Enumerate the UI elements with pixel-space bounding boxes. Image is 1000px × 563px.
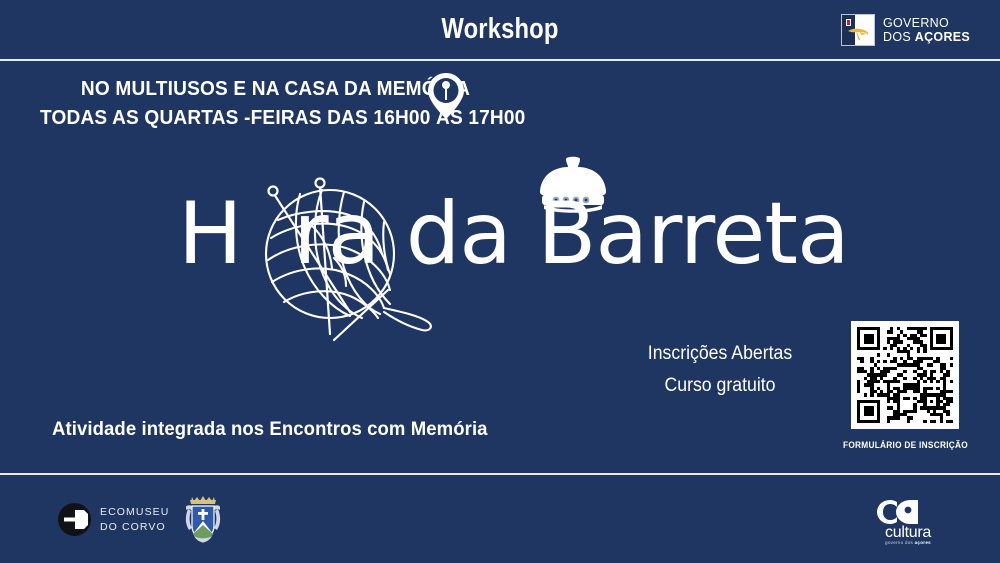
gov-logo-text: GOVERNO DOS AÇORES — [883, 16, 970, 45]
governo-dos-acores-logo: GOVERNO DOS AÇORES — [841, 14, 970, 46]
ecomuseu-mark-icon — [58, 503, 91, 536]
qr-caption: FORMULÁRIO DE INSCRIÇÃO — [839, 440, 972, 450]
cultura-sub-light: governo dos — [885, 540, 915, 545]
event-details: NO MULTIUSOS E NA CASA DA MEMÓRIA TODAS … — [40, 74, 430, 132]
cultura-logo-icon: cultura governo dos açores — [872, 497, 944, 545]
event-location: NO MULTIUSOS E NA CASA DA MEMÓRIA — [40, 74, 403, 103]
location-pin-icon — [420, 70, 472, 122]
ecomuseu-do-corvo-logo: ECOMUSEU DO CORVO — [58, 503, 169, 536]
signup-info: Inscrições Abertas Curso gratuito — [620, 338, 820, 403]
main-title-group: Hora da Barreta — [0, 150, 1000, 340]
page-title: Workshop — [90, 13, 910, 46]
title-part-3: Barreta — [537, 184, 848, 284]
event-schedule: TODAS AS QUARTAS -FEIRAS DAS 16H00 ÀS 17… — [40, 103, 403, 132]
poster-title: Hora da Barreta — [178, 184, 849, 284]
gov-logo-line1: GOVERNO — [883, 16, 970, 30]
divider-bottom — [0, 473, 1000, 475]
title-part-2: ra da — [293, 184, 537, 284]
ecomuseu-logo-text: ECOMUSEU DO CORVO — [100, 505, 169, 533]
ecomuseu-line-2: DO CORVO — [100, 520, 169, 534]
ecomuseu-line-1: ECOMUSEU — [100, 505, 169, 519]
footer-bar: ECOMUSEU DO CORVO cultura — [0, 476, 1000, 563]
signup-line-1: Inscrições Abertas — [627, 338, 813, 370]
divider-top — [0, 59, 1000, 61]
cultura-sub-bold: açores — [915, 540, 931, 545]
header-bar: Workshop GOVERNO DOS AÇORES — [0, 0, 1000, 59]
goshawk-icon — [847, 27, 871, 41]
cultura-subtitle: governo dos açores — [872, 540, 944, 545]
gov-logo-line2-light: DOS — [883, 30, 915, 44]
gov-logo-line2-bold: AÇORES — [915, 30, 970, 44]
azores-flag-icon — [841, 14, 875, 46]
qr-code-matrix — [857, 327, 953, 423]
signup-line-2: Curso gratuito — [627, 370, 813, 402]
title-part-1: H — [178, 184, 242, 284]
corvo-coat-of-arms-icon — [182, 496, 224, 544]
poster-canvas: Workshop GOVERNO DOS AÇORES NO MULT — [0, 0, 1000, 563]
cultura-wordmark: cultura — [872, 525, 944, 541]
qr-code[interactable] — [851, 321, 959, 429]
activity-note: Atividade integrada nos Encontros com Me… — [52, 418, 488, 441]
